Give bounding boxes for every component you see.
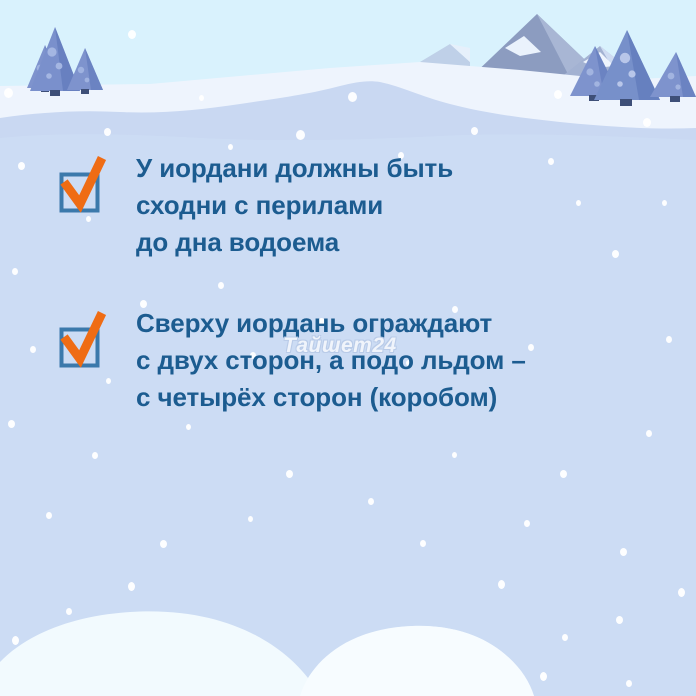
bullet-line: до дна водоема [136,224,453,261]
snowflake [524,520,530,527]
snowflake [560,470,567,478]
snowflake [46,512,52,519]
bullet-line: с четырёх сторон (коробом) [136,379,526,416]
snowflake [160,540,167,548]
bullet-line: У иордани должны быть [136,150,453,187]
snowflake [620,548,627,556]
snowflake [248,516,253,522]
snowflake [368,498,374,505]
checked-checkbox-icon [58,162,102,208]
bullet-point-text: У иордани должны быть сходни с перилами … [136,150,453,261]
bullet-point-text: Сверху иордань ограждают с двух сторон, … [136,305,526,416]
checked-checkbox-icon [58,317,102,363]
bullet-line: Сверху иордань ограждают [136,305,526,342]
bullet-point: Сверху иордань ограждают с двух сторон, … [0,305,696,416]
winter-scene [0,0,696,160]
snow-mound-right [300,626,534,696]
snowflake [286,470,293,478]
bullet-line: с двух сторон, а подо льдом – [136,342,526,379]
bullet-point: У иордани должны быть сходни с перилами … [0,150,696,261]
winter-safety-infographic: У иордани должны быть сходни с перилами … [0,0,696,696]
snow-mounds [0,566,696,696]
snowflake [420,540,426,547]
bullet-points-list: У иордани должны быть сходни с перилами … [0,150,696,460]
bullet-line: сходни с перилами [136,187,453,224]
